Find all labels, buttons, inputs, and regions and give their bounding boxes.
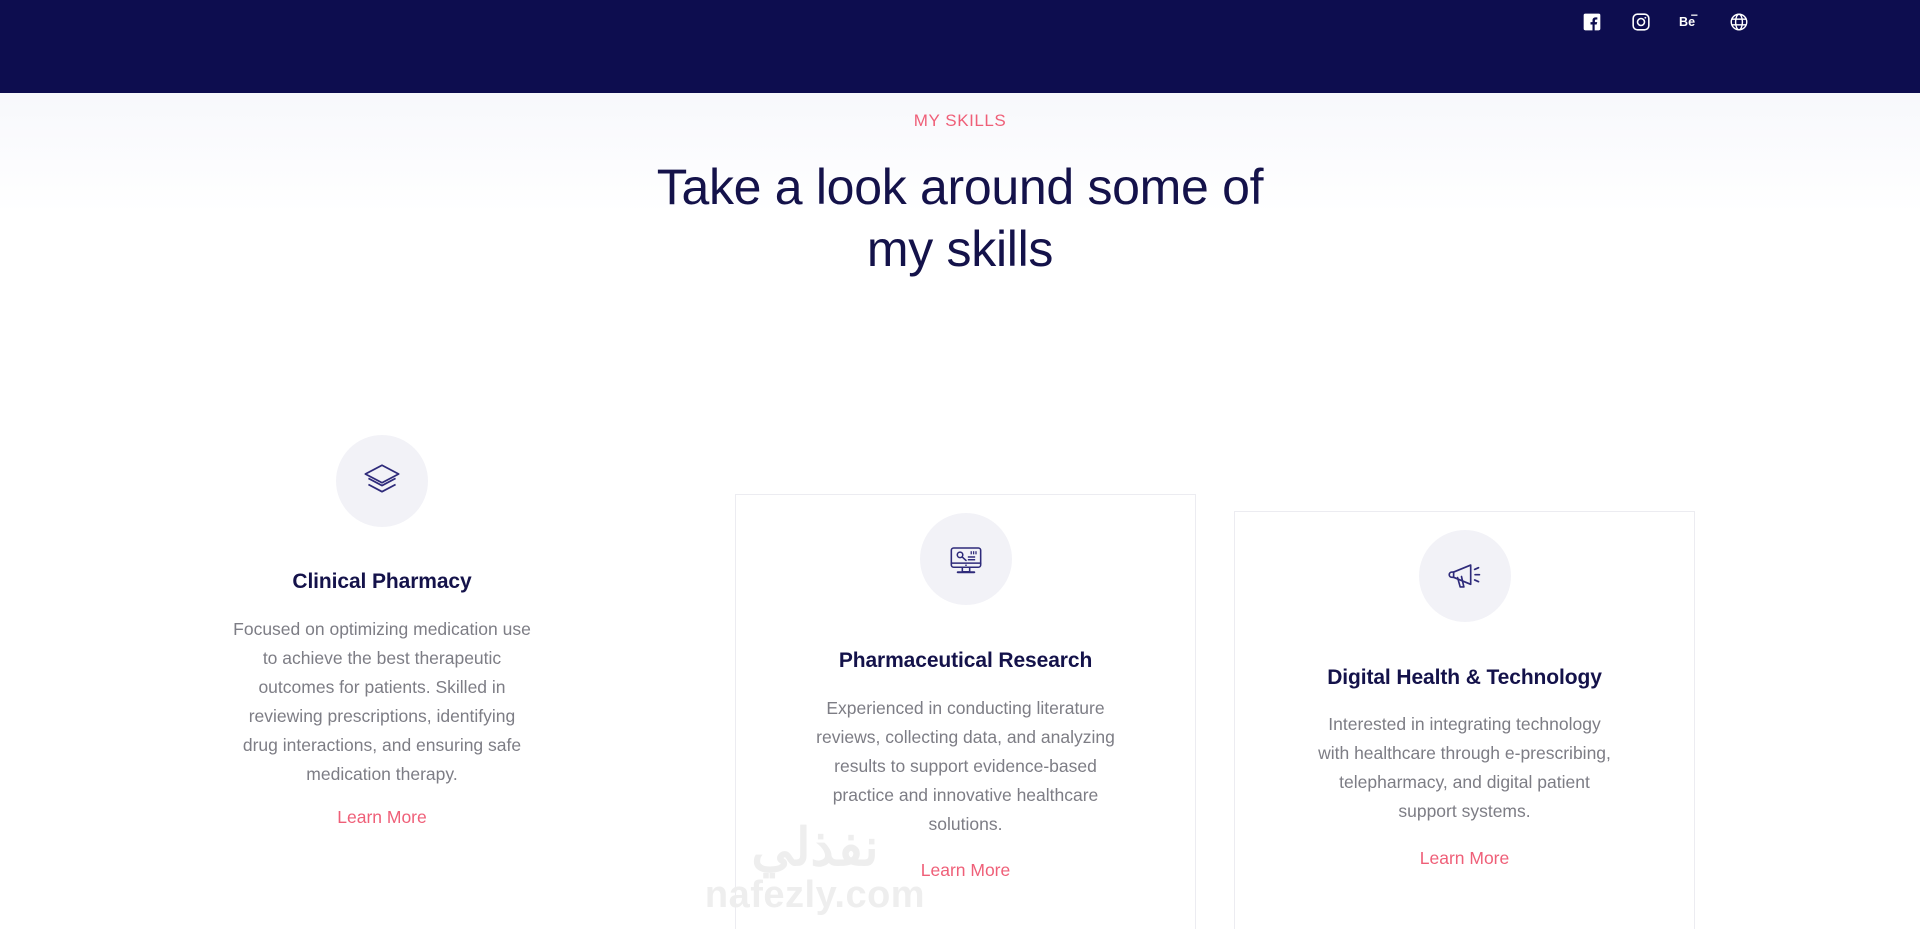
skill-card-title: Pharmaceutical Research	[839, 649, 1092, 673]
skills-section: MY SKILLS Take a look around some of my …	[0, 93, 1920, 929]
skills-card-grid: Clinical Pharmacy Focused on optimizing …	[0, 93, 1920, 929]
skill-card-clinical-pharmacy[interactable]: Clinical Pharmacy Focused on optimizing …	[236, 408, 528, 929]
skill-card-digital-health[interactable]: Digital Health & Technology Interested i…	[1234, 511, 1695, 929]
desktop-research-icon	[920, 513, 1012, 605]
svg-text:Be: Be	[1679, 15, 1695, 29]
megaphone-icon	[1419, 530, 1511, 622]
learn-more-link[interactable]: Learn More	[921, 860, 1011, 881]
learn-more-link[interactable]: Learn More	[1420, 848, 1510, 869]
skill-card-description: Interested in integrating technology wit…	[1312, 710, 1618, 826]
learn-more-link[interactable]: Learn More	[337, 807, 427, 828]
skill-card-description: Experienced in conducting literature rev…	[813, 694, 1119, 839]
skill-card-title: Digital Health & Technology	[1327, 666, 1602, 690]
facebook-icon[interactable]	[1581, 11, 1603, 33]
instagram-icon[interactable]	[1630, 11, 1652, 33]
skill-card-pharmaceutical-research[interactable]: Pharmaceutical Research Experienced in c…	[735, 494, 1196, 929]
skill-card-description: Focused on optimizing medication use to …	[232, 615, 532, 789]
globe-icon[interactable]	[1728, 11, 1750, 33]
behance-icon[interactable]: Be	[1679, 11, 1701, 33]
top-navigation-bar: Be	[0, 0, 1920, 93]
social-links: Be	[1581, 0, 1750, 93]
skill-card-title: Clinical Pharmacy	[292, 570, 471, 594]
layers-icon	[336, 435, 428, 527]
